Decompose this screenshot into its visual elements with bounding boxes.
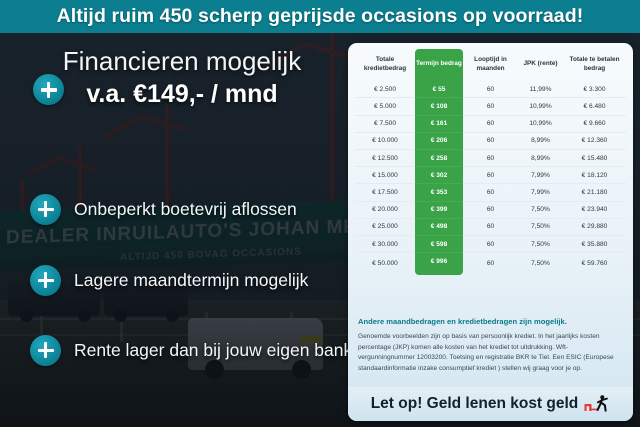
cell-jkp: 7,50% xyxy=(518,201,563,218)
feature-item-lagere-maandtermijn: Lagere maandtermijn mogelijk xyxy=(30,263,345,297)
cell-jkp: 8,99% xyxy=(518,150,563,167)
table-row: € 15.000€ 302607,99%€ 18.120 xyxy=(355,167,626,184)
table-row: € 50.000€ 996607,50%€ 59.760 xyxy=(355,253,626,275)
cell-jkp: 10,99% xyxy=(518,115,563,132)
feature-label: Lagere maandtermijn mogelijk xyxy=(74,270,308,291)
cell-termijn: € 206 xyxy=(415,132,463,149)
cell-krediet: € 25.000 xyxy=(355,218,415,235)
cell-looptijd: 60 xyxy=(463,201,518,218)
headline-line-2: v.a. €149,- / mnd xyxy=(22,80,342,109)
cell-totaal: € 59.760 xyxy=(563,253,626,275)
cell-jkp: 11,99% xyxy=(518,81,563,98)
table-row: € 25.000€ 498607,50%€ 29.880 xyxy=(355,218,626,235)
table-row: € 12.500€ 258608,99%€ 15.480 xyxy=(355,150,626,167)
cell-looptijd: 60 xyxy=(463,184,518,201)
cell-jkp: 7,50% xyxy=(518,235,563,252)
cell-totaal: € 6.480 xyxy=(563,98,626,115)
cell-krediet: € 30.000 xyxy=(355,235,415,252)
table-row: € 17.500€ 353607,99%€ 21.180 xyxy=(355,184,626,201)
cell-looptijd: 60 xyxy=(463,98,518,115)
disclaimer-heading: Andere maandbedragen en kredietbedragen … xyxy=(358,317,624,327)
cell-looptijd: 60 xyxy=(463,115,518,132)
cell-totaal: € 15.480 xyxy=(563,150,626,167)
table-row: € 30.000€ 598607,50%€ 35.880 xyxy=(355,235,626,252)
feature-item-rente-lager: Rente lager dan bij jouw eigen bank xyxy=(30,333,345,367)
top-banner: Altijd ruim 450 scherp geprijsde occasio… xyxy=(0,0,640,33)
cell-looptijd: 60 xyxy=(463,150,518,167)
column-header-termijn: Termijn bedrag xyxy=(415,49,463,81)
feature-item-onbeperkt-aflossen: Onbeperkt boetevrij aflossen xyxy=(30,192,345,226)
table-row: € 2.500€ 556011,99%€ 3.300 xyxy=(355,81,626,98)
cell-jkp: 10,99% xyxy=(518,98,563,115)
cell-krediet: € 17.500 xyxy=(355,184,415,201)
cell-krediet: € 10.000 xyxy=(355,132,415,149)
cell-termijn: € 55 xyxy=(415,81,463,98)
column-header-jkp: JPK (rente) xyxy=(518,49,563,81)
cell-termijn: € 399 xyxy=(415,201,463,218)
cell-totaal: € 18.120 xyxy=(563,167,626,184)
cell-looptijd: 60 xyxy=(463,81,518,98)
plus-circle-icon xyxy=(30,194,61,225)
cell-krediet: € 20.000 xyxy=(355,201,415,218)
cell-jkp: 7,99% xyxy=(518,184,563,201)
cell-looptijd: 60 xyxy=(463,235,518,252)
top-banner-text: Altijd ruim 450 scherp geprijsde occasio… xyxy=(57,5,584,28)
column-header-totaal: Totale te betalen bedrag xyxy=(563,49,626,81)
table-row: € 5.000€ 1086010,99%€ 6.480 xyxy=(355,98,626,115)
plus-circle-icon xyxy=(30,265,61,296)
promo-banner-image: DEALER INRUILAUTO'S JOHAN MEURE ALTIJD 4… xyxy=(0,0,640,427)
column-header-krediet: Totale kredietbedrag xyxy=(355,49,415,81)
cell-looptijd: 60 xyxy=(463,132,518,149)
cell-looptijd: 60 xyxy=(463,253,518,275)
cell-looptijd: 60 xyxy=(463,167,518,184)
cell-jkp: 7,99% xyxy=(518,167,563,184)
cell-totaal: € 29.880 xyxy=(563,218,626,235)
cell-looptijd: 60 xyxy=(463,218,518,235)
rates-table: Totale kredietbedrag Termijn bedrag Loop… xyxy=(355,49,626,275)
left-feature-column: Financieren mogelijk v.a. €149,- / mnd O… xyxy=(0,33,345,427)
cell-krediet: € 12.500 xyxy=(355,150,415,167)
cell-krediet: € 15.000 xyxy=(355,167,415,184)
column-header-looptijd: Looptijd in maanden xyxy=(463,49,518,81)
cell-jkp: 7,50% xyxy=(518,218,563,235)
cell-jkp: 8,99% xyxy=(518,132,563,149)
cell-termijn: € 598 xyxy=(415,235,463,252)
rates-table-body: € 2.500€ 556011,99%€ 3.300€ 5.000€ 10860… xyxy=(355,81,626,274)
cell-termijn: € 302 xyxy=(415,167,463,184)
table-row: € 20.000€ 399607,50%€ 23.940 xyxy=(355,201,626,218)
headline-line-1: Financieren mogelijk xyxy=(22,48,342,75)
plus-circle-icon xyxy=(30,335,61,366)
rates-panel: Totale kredietbedrag Termijn bedrag Loop… xyxy=(348,43,633,421)
rates-table-wrap: Totale kredietbedrag Termijn bedrag Loop… xyxy=(355,49,626,275)
table-header-row: Totale kredietbedrag Termijn bedrag Loop… xyxy=(355,49,626,81)
credit-warning-text: Let op! Geld lenen kost geld xyxy=(371,395,579,413)
afm-walking-man-icon xyxy=(584,394,610,414)
cell-termijn: € 161 xyxy=(415,115,463,132)
table-row: € 7.500€ 1616010,99%€ 9.660 xyxy=(355,115,626,132)
cell-totaal: € 23.940 xyxy=(563,201,626,218)
cell-krediet: € 2.500 xyxy=(355,81,415,98)
cell-totaal: € 3.300 xyxy=(563,81,626,98)
cell-jkp: 7,50% xyxy=(518,253,563,275)
cell-totaal: € 9.660 xyxy=(563,115,626,132)
disclaimer-block: Andere maandbedragen en kredietbedragen … xyxy=(358,317,624,375)
cell-termijn: € 996 xyxy=(415,253,463,275)
cell-termijn: € 498 xyxy=(415,218,463,235)
cell-totaal: € 21.180 xyxy=(563,184,626,201)
cell-termijn: € 258 xyxy=(415,150,463,167)
cell-krediet: € 5.000 xyxy=(355,98,415,115)
table-row: € 10.000€ 206608,99%€ 12.360 xyxy=(355,132,626,149)
cell-termijn: € 353 xyxy=(415,184,463,201)
cell-termijn: € 108 xyxy=(415,98,463,115)
cell-totaal: € 12.360 xyxy=(563,132,626,149)
feature-label: Rente lager dan bij jouw eigen bank xyxy=(74,340,352,361)
headline-block: Financieren mogelijk v.a. €149,- / mnd xyxy=(22,48,342,109)
credit-warning-bar: Let op! Geld lenen kost geld xyxy=(348,387,633,421)
cell-krediet: € 50.000 xyxy=(355,253,415,275)
feature-label: Onbeperkt boetevrij aflossen xyxy=(74,199,297,220)
cell-krediet: € 7.500 xyxy=(355,115,415,132)
cell-totaal: € 35.880 xyxy=(563,235,626,252)
disclaimer-body: Genoemde voorbeelden zijn op basis van p… xyxy=(358,332,624,375)
